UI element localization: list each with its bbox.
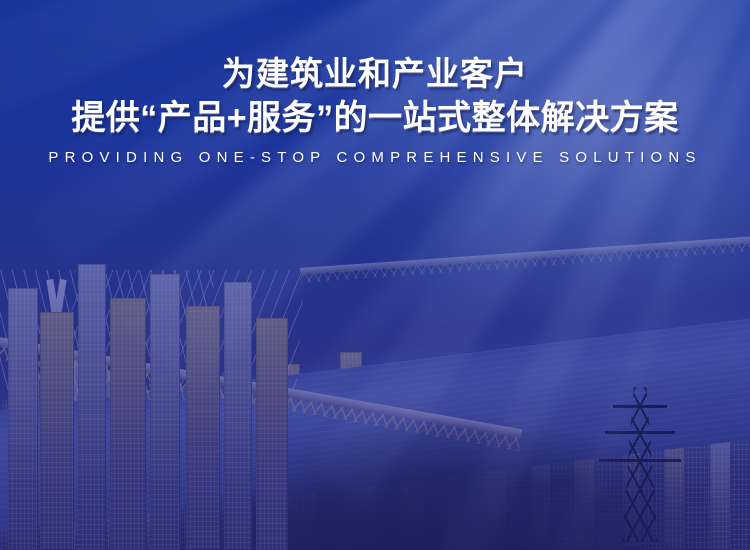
- subtitle-english: PROVIDING ONE-STOP COMPREHENSIVE SOLUTIO…: [0, 149, 750, 166]
- headline-line-1: 为建筑业和产业客户: [0, 52, 750, 96]
- banner-copy: 为建筑业和产业客户 提供“产品+服务”的一站式整体解决方案 PROVIDING …: [0, 52, 750, 166]
- secondary-bridge: [300, 235, 750, 275]
- hero-banner: 为建筑业和产业客户 提供“产品+服务”的一站式整体解决方案 PROVIDING …: [0, 0, 750, 550]
- city-skyline: [0, 150, 750, 550]
- headline-line-2: 提供“产品+服务”的一站式整体解决方案: [0, 96, 750, 140]
- transmission-tower: [608, 387, 672, 542]
